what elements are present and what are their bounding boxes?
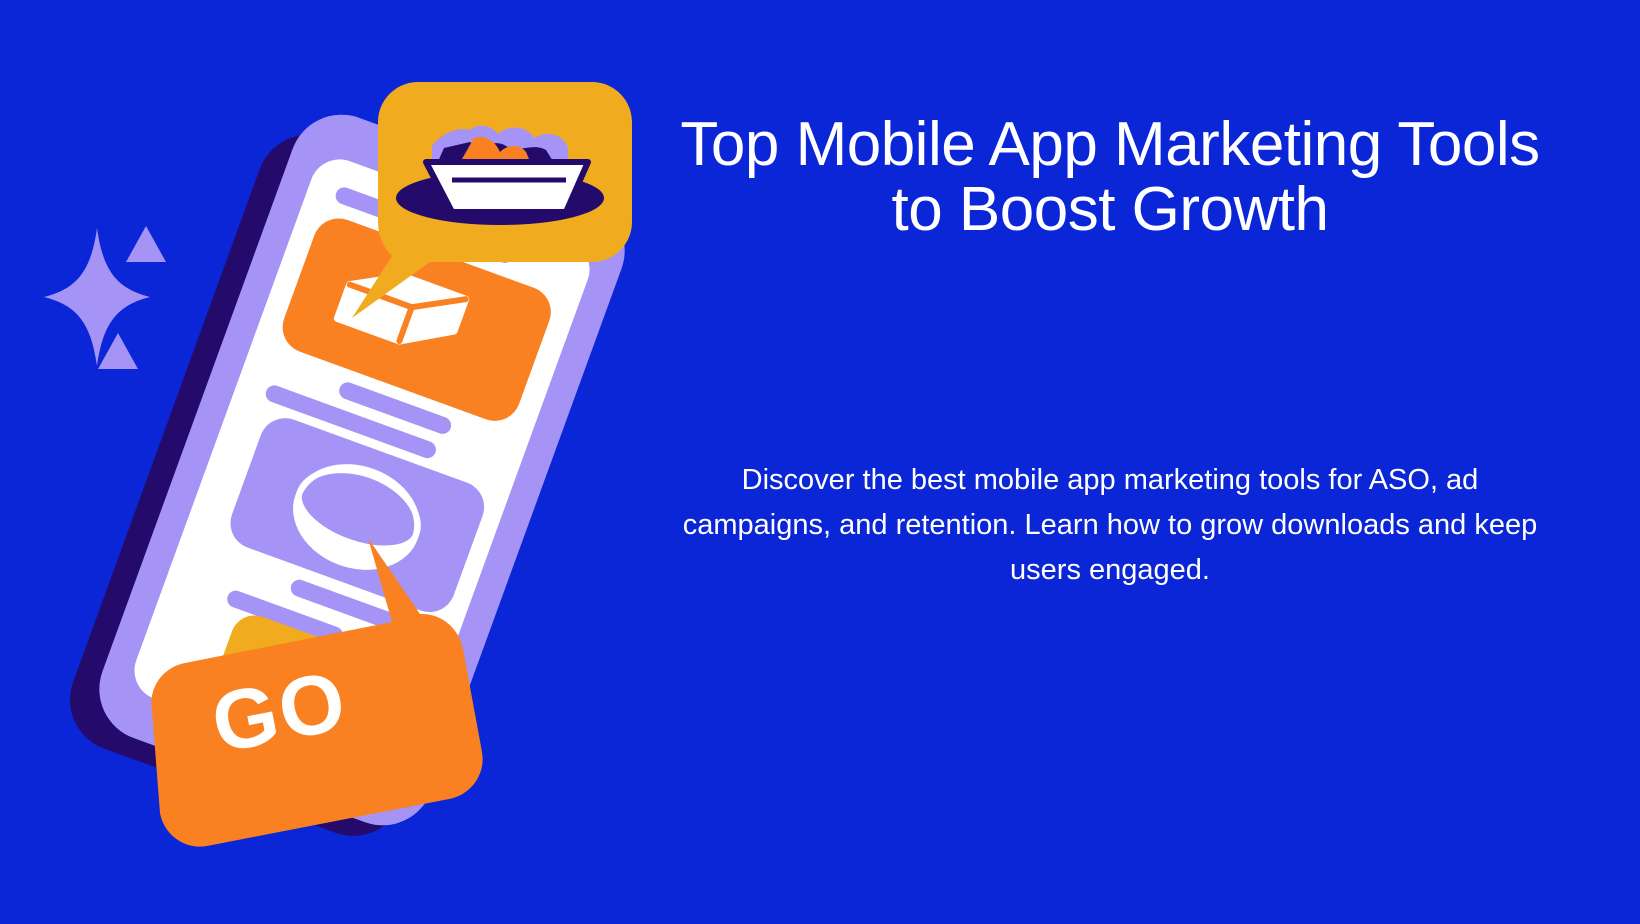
hero-description: Discover the best mobile app marketing t… xyxy=(670,458,1550,593)
hero-banner: GO Top Mobile App Marketing Tools to Boo… xyxy=(0,0,1640,924)
page-title: Top Mobile App Marketing Tools to Boost … xyxy=(660,112,1560,242)
hero-illustration: GO xyxy=(0,0,660,924)
hero-text-column: Top Mobile App Marketing Tools to Boost … xyxy=(660,0,1560,924)
